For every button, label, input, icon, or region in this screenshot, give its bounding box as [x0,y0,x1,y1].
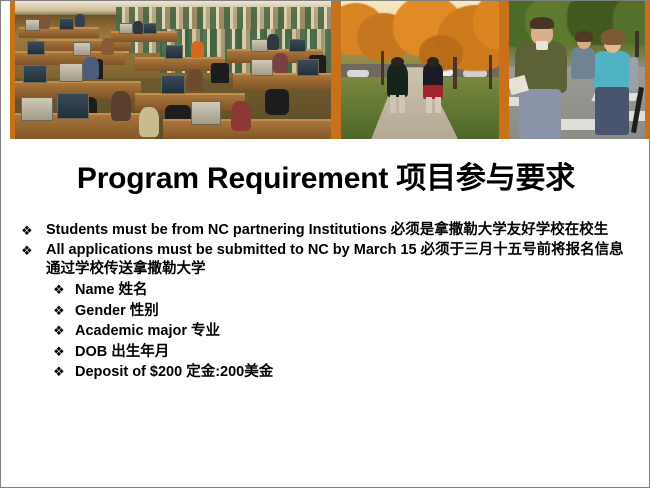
bullet-marker-icon: ❖ [53,362,65,383]
bullet-text: Gender 性别 [75,303,159,319]
bullet-text: Students must be from NC partnering Inst… [46,222,608,238]
bullet-marker-icon: ❖ [21,241,33,260]
bullet-marker-icon: ❖ [53,301,65,322]
bullet-marker-icon: ❖ [21,221,33,240]
bullet-item-level2: ❖ Name 姓名 [1,280,650,301]
bullet-item-level2: ❖ Academic major 专业 [1,321,650,342]
bullet-item-level2: ❖ DOB 出生年月 [1,342,650,363]
bullet-marker-icon: ❖ [53,321,65,342]
banner-photo-students-crossing-street [504,1,650,139]
bullet-item-level2: ❖ Deposit of $200 定金:200美金 [1,362,650,383]
bullet-text: Academic major 专业 [75,323,220,339]
bullet-item-level2: ❖ Gender 性别 [1,301,650,322]
slide-title: Program Requirement 项目参与要求 [1,153,650,197]
bullet-marker-icon: ❖ [53,342,65,363]
bullet-text: Deposit of $200 定金:200美金 [75,364,273,380]
presentation-slide: Program Requirement 项目参与要求 ❖ Students mu… [0,0,650,488]
banner-photo-library-computer-lab [10,1,336,139]
bullet-marker-icon: ❖ [53,280,65,301]
photo-banner [10,1,650,139]
bullet-item-level1: ❖ Students must be from NC partnering In… [1,221,650,240]
banner-photo-autumn-campus-walkway [336,1,504,139]
slide-body: ❖ Students must be from NC partnering In… [1,221,650,383]
bullet-text: DOB 出生年月 [75,344,169,360]
bullet-text: Name 姓名 [75,282,148,298]
bullet-text: All applications must be submitted to NC… [46,242,624,277]
bullet-item-level1: ❖ All applications must be submitted to … [1,241,650,279]
